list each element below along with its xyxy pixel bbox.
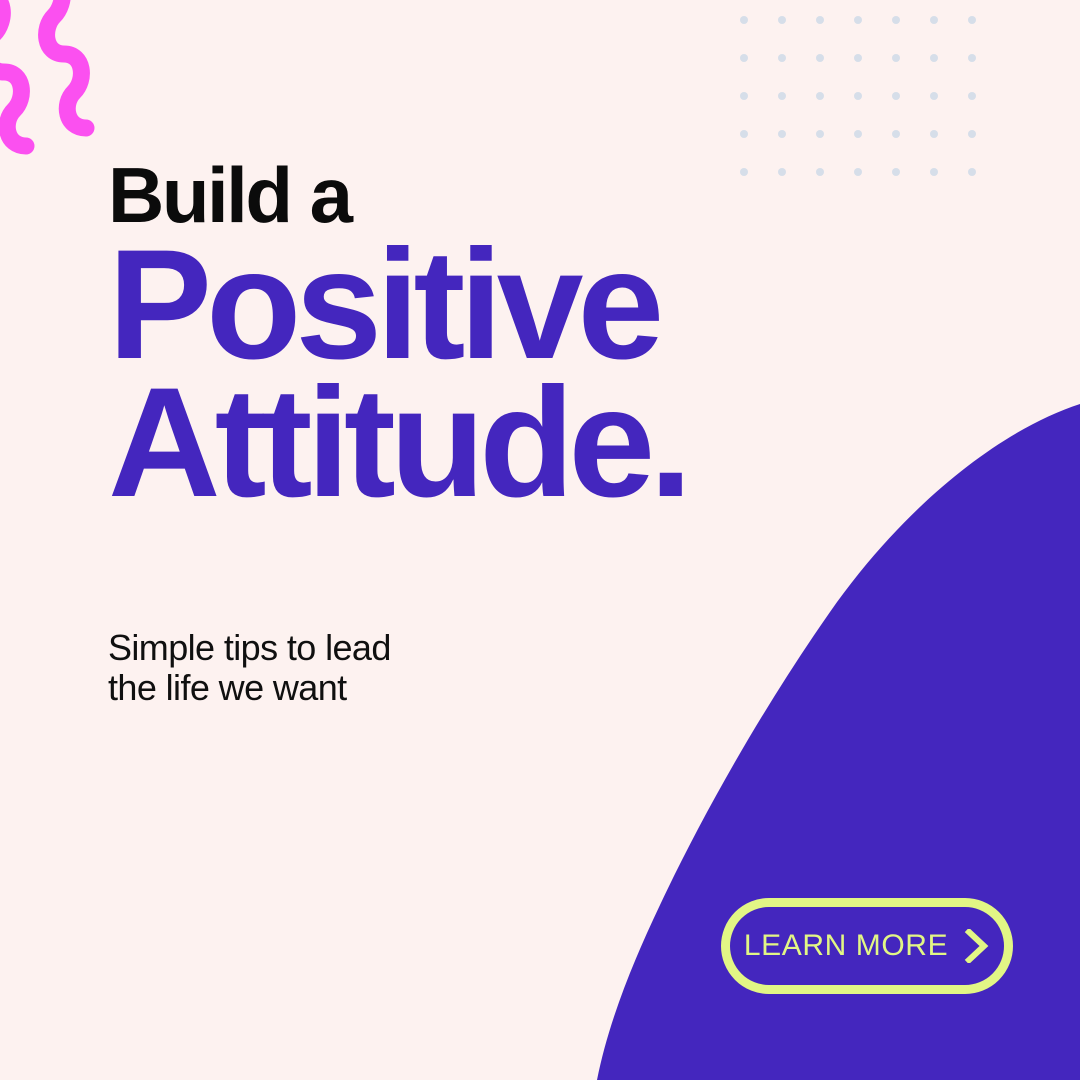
subtitle-line-two: the life we want bbox=[108, 668, 568, 708]
dot-grid-dot bbox=[854, 168, 862, 176]
dot-grid-dot bbox=[740, 92, 748, 100]
dot-grid-dot bbox=[816, 92, 824, 100]
dot-grid-dot bbox=[930, 16, 938, 24]
dot-grid-dot bbox=[816, 54, 824, 62]
dot-grid-dot bbox=[778, 92, 786, 100]
learn-more-label: LEARN MORE bbox=[744, 929, 948, 963]
pink-squiggle-two bbox=[40, 0, 86, 128]
dot-grid-dot bbox=[854, 130, 862, 138]
dot-grid-dot bbox=[778, 54, 786, 62]
dot-grid-dot bbox=[816, 16, 824, 24]
poster-canvas: Build a Positive Attitude. Simple tips t… bbox=[0, 0, 1080, 1080]
pink-squiggle-one bbox=[0, 0, 26, 146]
dot-grid-dot bbox=[892, 92, 900, 100]
dot-grid-dot bbox=[930, 130, 938, 138]
headline-line-two: Attitude. bbox=[108, 376, 828, 510]
dot-grid-dot bbox=[930, 168, 938, 176]
dot-grid-dot bbox=[968, 16, 976, 24]
headline-line-one: Positive bbox=[108, 238, 828, 372]
dot-grid-dot bbox=[930, 54, 938, 62]
dot-grid-dot bbox=[968, 54, 976, 62]
dot-grid-dot bbox=[778, 16, 786, 24]
dot-grid-dot bbox=[854, 92, 862, 100]
dot-grid-dot bbox=[892, 16, 900, 24]
dot-grid-dot bbox=[968, 92, 976, 100]
dot-grid-dot bbox=[892, 168, 900, 176]
dot-grid-dot bbox=[740, 54, 748, 62]
dot-grid-dot bbox=[778, 130, 786, 138]
headline-block: Build a Positive Attitude. bbox=[108, 160, 828, 510]
subtitle-block: Simple tips to lead the life we want bbox=[108, 628, 568, 707]
dot-grid-dot bbox=[892, 54, 900, 62]
dot-grid-dot bbox=[968, 168, 976, 176]
learn-more-button[interactable]: LEARN MORE bbox=[721, 898, 1013, 994]
dot-grid-dot bbox=[816, 130, 824, 138]
dot-grid-dot bbox=[854, 16, 862, 24]
dot-grid-dot bbox=[968, 130, 976, 138]
dot-grid-dot bbox=[740, 16, 748, 24]
subtitle-line-one: Simple tips to lead bbox=[108, 628, 568, 668]
dot-grid-dot bbox=[854, 54, 862, 62]
dot-grid-dot bbox=[740, 130, 748, 138]
dot-grid-dot bbox=[930, 92, 938, 100]
chevron-right-icon bbox=[964, 929, 990, 963]
dot-grid-dot bbox=[892, 130, 900, 138]
